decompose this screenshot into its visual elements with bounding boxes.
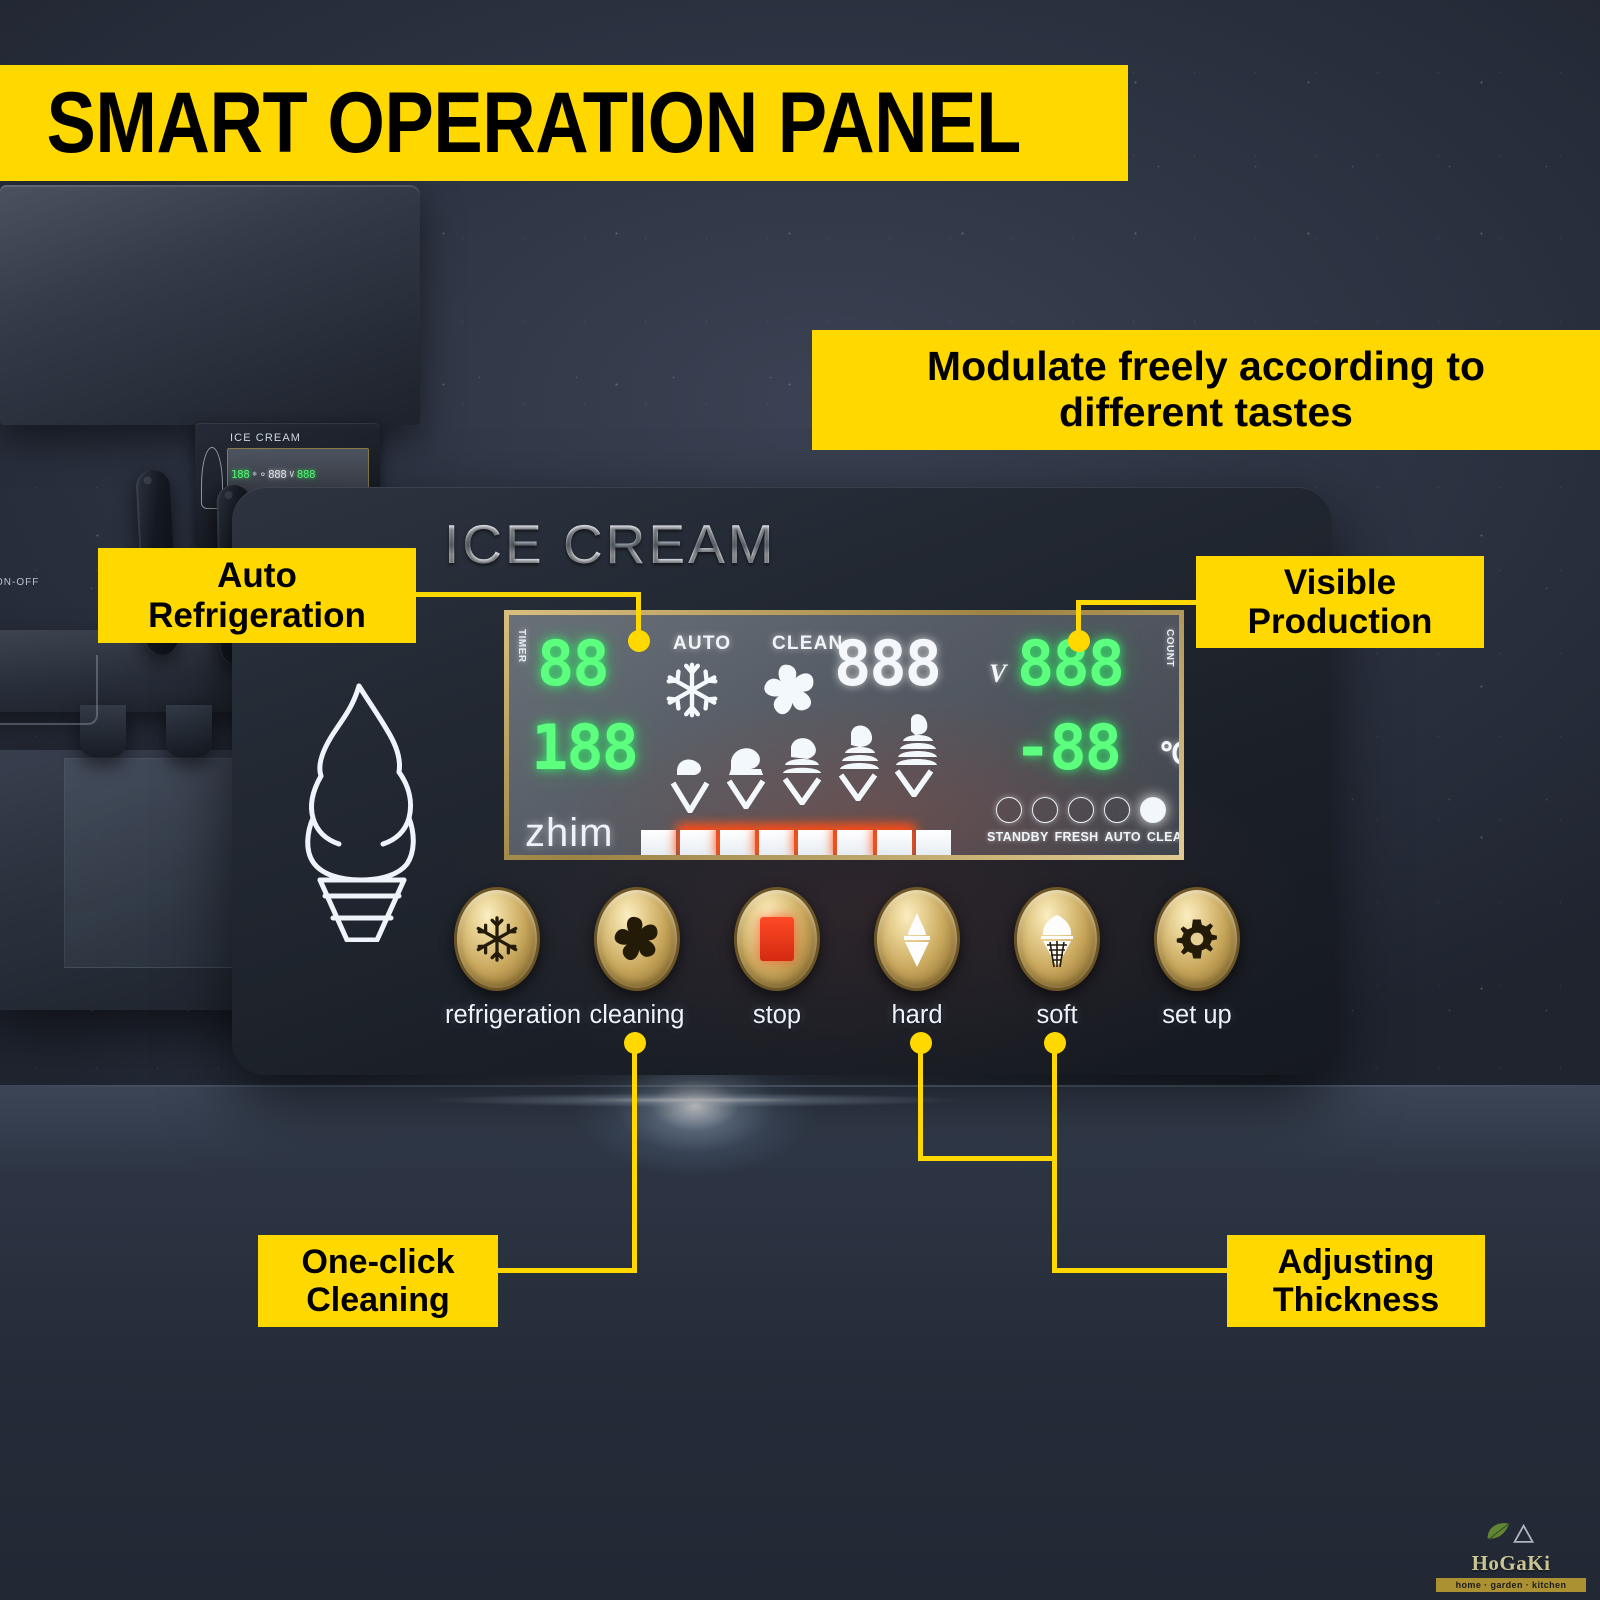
bargraph-segment: [877, 830, 912, 856]
lcd-status-icon-row: [996, 797, 1166, 823]
leader-dot-auto-refrigeration: [628, 630, 650, 652]
button-label-set-up: set up: [1145, 1001, 1249, 1030]
leader-line-auto-refrigeration-h: [413, 592, 641, 597]
callout-one-click-cleaning-line2: Cleaning: [306, 1281, 450, 1319]
bargraph-segment: [720, 830, 755, 856]
callout-auto-refrigeration: Auto Refrigeration: [98, 548, 416, 643]
lcd-status-label-row: STANDBY FRESH AUTO CLEAN STOP: [987, 830, 1184, 844]
machine-nozzle-2: [166, 705, 212, 757]
leader-line-soft-v: [1052, 1040, 1057, 1272]
machine-mini-lcd-count: 888: [297, 468, 315, 481]
callout-one-click-cleaning: One-click Cleaning: [258, 1235, 498, 1327]
watermark-name: HoGaKi: [1436, 1551, 1586, 1576]
button-soft[interactable]: soft: [1005, 887, 1109, 1030]
lcd-thickness-cone-1: [661, 727, 719, 813]
standby-icon: [996, 797, 1022, 823]
status-label-clean: CLEAN: [1147, 830, 1184, 844]
button-row: refrigeration cleaning: [447, 887, 1247, 1027]
lcd-brand-name: zhim: [525, 811, 613, 856]
button-cleaning[interactable]: cleaning: [585, 887, 689, 1030]
leader-dot-soft: [1044, 1032, 1066, 1054]
watermark-logo: HoGaKi home · garden · kitchen: [1436, 1518, 1586, 1592]
callout-auto-refrigeration-line2: Refrigeration: [148, 596, 366, 635]
title-banner: SMART OPERATION PANEL: [0, 65, 1128, 181]
machine-onoff-label: ON-OFF: [0, 577, 39, 588]
lcd-temperature-value: -88: [1014, 711, 1120, 784]
machine-mini-lcd-left: 188: [231, 468, 249, 481]
status-label-standby: STANDBY: [987, 830, 1049, 844]
lcd-temperature-unit: ℃: [1159, 737, 1184, 772]
lcd-thickness-bargraph: [641, 820, 951, 856]
button-label-refrigeration: refrigeration: [445, 1001, 549, 1030]
stop-indicator-icon: [1140, 797, 1166, 823]
leader-line-hard-v: [918, 1040, 923, 1160]
button-set-up[interactable]: set up: [1145, 887, 1249, 1030]
status-label-fresh: FRESH: [1055, 830, 1099, 844]
leader-line-one-click-cleaning-h: [494, 1268, 637, 1273]
callout-visible-production: Visible Production: [1196, 556, 1484, 648]
leader-line-visible-production-h: [1076, 600, 1201, 605]
leader-line-hard-soft-join: [918, 1156, 1057, 1161]
fan-icon: [759, 659, 821, 721]
lcd-secondary-value: 188: [531, 711, 637, 784]
button-label-soft: soft: [1005, 1001, 1109, 1030]
callout-adjusting-thickness-line1: Adjusting: [1278, 1243, 1435, 1281]
lcd-voltage-value: 888: [834, 627, 940, 700]
button-label-cleaning: cleaning: [585, 1001, 689, 1030]
lcd-vertical-label-left: TIMER: [516, 629, 527, 663]
lcd-clean-caption: CLEAN: [772, 633, 843, 655]
machine-mini-panel-title: ICE CREAM: [230, 432, 301, 444]
floor-horizon-line: [0, 1085, 1600, 1087]
leader-dot-one-click-cleaning: [624, 1032, 646, 1054]
bargraph-segment: [759, 830, 794, 856]
callout-modulate-freely: Modulate freely according to different t…: [812, 330, 1600, 450]
callout-auto-refrigeration-line1: Auto: [217, 556, 297, 595]
control-panel-title: ICE CREAM: [444, 512, 777, 576]
lcd-timer-value: 88: [537, 627, 608, 700]
soft-serve-cone-graphic: [287, 672, 437, 942]
status-label-auto: AUTO: [1104, 830, 1140, 844]
page-title: SMART OPERATION PANEL: [0, 80, 1021, 166]
leader-line-one-click-cleaning-v: [632, 1040, 637, 1272]
lcd-thickness-cone-4: [829, 715, 887, 801]
button-label-stop: stop: [725, 1001, 829, 1030]
lcd-thickness-cone-2: [717, 723, 775, 809]
callout-visible-production-line1: Visible: [1284, 563, 1396, 602]
floor-surface: [0, 1085, 1600, 1600]
callout-visible-production-line2: Production: [1248, 602, 1433, 641]
machine-body: [0, 185, 420, 425]
watermark-tagline: home · garden · kitchen: [1436, 1578, 1586, 1592]
button-hard[interactable]: hard: [865, 887, 969, 1030]
callout-modulate-line2: different tastes: [1059, 390, 1353, 436]
callout-adjusting-thickness-line2: Thickness: [1273, 1281, 1439, 1319]
callout-adjusting-thickness: Adjusting Thickness: [1227, 1235, 1485, 1327]
hard-serve-cone-icon: [892, 909, 942, 969]
snowflake-icon: [471, 913, 523, 965]
button-label-hard: hard: [865, 1001, 969, 1030]
machine-mini-lcd-volt: 888: [268, 468, 286, 481]
clean-fan-icon: [1104, 797, 1130, 823]
fresh-icon: [1032, 797, 1058, 823]
lcd-voltage-unit: V: [989, 659, 1006, 689]
bargraph-segment: [837, 830, 872, 856]
leader-line-adjusting-thickness-h: [1052, 1268, 1232, 1273]
lcd-thickness-cone-5: [885, 711, 943, 797]
snowflake-icon: [661, 659, 723, 721]
bargraph-segment: [916, 830, 951, 856]
callout-modulate-line1: Modulate freely according to: [927, 344, 1485, 390]
leaf-icon: [1484, 1518, 1538, 1546]
fan-icon: [611, 913, 663, 965]
auto-snowflake-icon: [1068, 797, 1094, 823]
soft-serve-cone-icon: [1032, 909, 1082, 969]
lcd-vertical-label-right: COUNT: [1164, 629, 1175, 667]
button-refrigeration[interactable]: refrigeration: [445, 887, 549, 1030]
callout-one-click-cleaning-line1: One-click: [301, 1243, 454, 1281]
button-stop[interactable]: stop: [725, 887, 829, 1030]
lcd-thickness-cone-3: [773, 719, 831, 805]
bargraph-segment: [798, 830, 833, 856]
lcd-auto-caption: AUTO: [673, 633, 731, 655]
machine-mini-lcd-volt-unit: V: [289, 470, 293, 479]
stop-square-icon: [760, 917, 794, 961]
gear-icon: [1173, 915, 1221, 963]
machine-drip-tray: [0, 655, 98, 725]
bargraph-segment: [680, 830, 715, 856]
leader-dot-hard: [910, 1032, 932, 1054]
bargraph-segment: [641, 830, 676, 856]
leader-dot-visible-production: [1068, 630, 1090, 652]
